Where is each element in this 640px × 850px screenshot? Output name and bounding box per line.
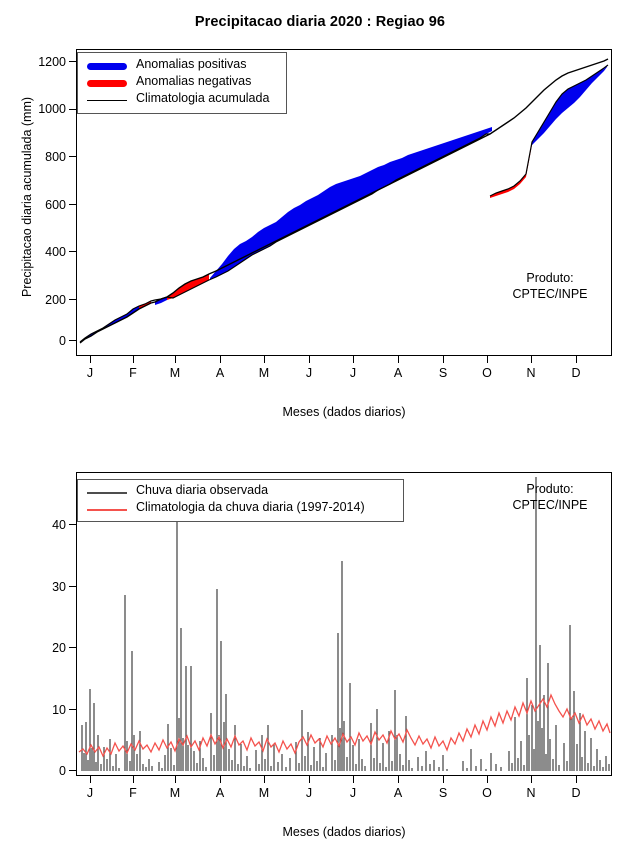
top-x-tickmark xyxy=(220,356,221,363)
top-x-tick-jun: J xyxy=(299,366,319,380)
bottom-x-tick-aug: A xyxy=(388,786,408,800)
legend-label-negative-anomaly: Anomalias negativas xyxy=(136,74,251,88)
climatology-line-swatch-icon xyxy=(87,100,127,101)
top-x-tick-jan: J xyxy=(80,366,100,380)
bottom-x-tickmark xyxy=(443,776,444,783)
positive-anomaly-swatch-icon xyxy=(87,63,127,70)
bottom-x-tickmark xyxy=(220,776,221,783)
bottom-x-tick-jan: J xyxy=(80,786,100,800)
produto-line-2: CPTEC/INPE xyxy=(512,498,587,512)
top-x-tickmark xyxy=(309,356,310,363)
legend-item-climatology-daily[interactable]: Climatologia da chuva diaria (1997-2014) xyxy=(78,501,403,518)
bottom-x-tick-may: M xyxy=(254,786,274,800)
bottom-x-tickmark xyxy=(398,776,399,783)
top-x-tickmark xyxy=(353,356,354,363)
top-x-axis-label: Meses (dados diarios) xyxy=(170,405,518,419)
top-x-tick-mar: M xyxy=(165,366,185,380)
top-y-tick-0: 0 xyxy=(24,334,66,348)
top-y-tickmark xyxy=(69,204,76,205)
bottom-x-tickmark xyxy=(309,776,310,783)
bottom-x-tickmark xyxy=(90,776,91,783)
bottom-x-tickmark xyxy=(264,776,265,783)
accumulated-precipitation-panel: Precipitacao diaria acumulada (mm) 1200 … xyxy=(0,0,640,425)
bottom-x-tick-nov: N xyxy=(521,786,541,800)
top-x-tickmark xyxy=(398,356,399,363)
bottom-x-tickmark xyxy=(531,776,532,783)
bottom-y-tickmark xyxy=(69,524,76,525)
legend-label-climatology-accumulated: Climatologia acumulada xyxy=(136,91,269,105)
bottom-y-tick-0: 0 xyxy=(24,764,66,778)
negative-anomaly-area xyxy=(490,142,532,198)
top-y-tick-800: 800 xyxy=(24,150,66,164)
top-x-tick-feb: F xyxy=(123,366,143,380)
produto-line-1: Produto: xyxy=(526,271,573,285)
legend-label-observed-daily: Chuva diaria observada xyxy=(136,483,268,497)
top-y-tick-600: 600 xyxy=(24,198,66,212)
legend-label-climatology-daily: Climatologia da chuva diaria (1997-2014) xyxy=(136,500,365,514)
climatology-daily-line-swatch-icon xyxy=(87,509,127,511)
legend-item-climatology-accumulated[interactable]: Climatologia acumulada xyxy=(78,92,286,109)
top-x-tickmark xyxy=(576,356,577,363)
bottom-x-axis-label: Meses (dados diarios) xyxy=(170,825,518,839)
produto-line-2: CPTEC/INPE xyxy=(512,287,587,301)
top-y-tickmark xyxy=(69,61,76,62)
legend-item-negative-anomaly[interactable]: Anomalias negativas xyxy=(78,75,286,92)
bottom-x-tick-sep: S xyxy=(433,786,453,800)
observed-daily-line-swatch-icon xyxy=(87,492,127,494)
legend-item-observed-daily[interactable]: Chuva diaria observada xyxy=(78,484,403,501)
top-x-tickmark xyxy=(264,356,265,363)
top-x-tick-aug: A xyxy=(388,366,408,380)
bottom-x-tickmark xyxy=(175,776,176,783)
top-x-tickmark xyxy=(531,356,532,363)
bottom-x-tickmark xyxy=(353,776,354,783)
top-x-tickmark xyxy=(487,356,488,363)
bottom-y-tick-40: 40 xyxy=(24,518,66,532)
top-legend: Anomalias positivas Anomalias negativas … xyxy=(77,52,287,114)
produto-line-1: Produto: xyxy=(526,482,573,496)
bottom-x-tick-apr: A xyxy=(210,786,230,800)
top-y-tick-400: 400 xyxy=(24,245,66,259)
top-y-tickmark xyxy=(69,299,76,300)
top-x-tick-oct: O xyxy=(477,366,497,380)
negative-anomaly-area xyxy=(167,274,209,300)
legend-label-positive-anomaly: Anomalias positivas xyxy=(136,57,246,71)
top-y-tickmark xyxy=(69,156,76,157)
bottom-y-tickmark xyxy=(69,709,76,710)
top-x-tick-nov: N xyxy=(521,366,541,380)
bottom-x-tick-dec: D xyxy=(566,786,586,800)
legend-item-positive-anomaly[interactable]: Anomalias positivas xyxy=(78,58,286,75)
top-produto-annotation: Produto: CPTEC/INPE xyxy=(500,271,600,302)
precipitation-report-page: Precipitacao diaria 2020 : Regiao 96 Pre… xyxy=(0,0,640,850)
top-x-tickmark xyxy=(443,356,444,363)
top-y-tick-1200: 1200 xyxy=(24,55,66,69)
bottom-y-tick-10: 10 xyxy=(24,703,66,717)
top-y-tick-1000: 1000 xyxy=(24,102,66,116)
bottom-x-tick-oct: O xyxy=(477,786,497,800)
top-x-tickmark xyxy=(90,356,91,363)
top-y-tickmark xyxy=(69,109,76,110)
top-y-tickmark xyxy=(69,340,76,341)
bottom-x-tickmark xyxy=(133,776,134,783)
daily-precipitation-panel: Precipitacao diaria (mm) 40 30 20 10 0 xyxy=(0,425,640,850)
bottom-y-tickmark xyxy=(69,770,76,771)
positive-anomaly-area xyxy=(532,66,607,145)
bottom-x-tick-mar: M xyxy=(165,786,185,800)
bottom-y-tick-20: 20 xyxy=(24,641,66,655)
top-x-tick-may: M xyxy=(254,366,274,380)
top-y-tickmark xyxy=(69,251,76,252)
bottom-y-tickmark xyxy=(69,586,76,587)
negative-anomaly-swatch-icon xyxy=(87,80,127,87)
bottom-x-tickmark xyxy=(576,776,577,783)
bottom-legend: Chuva diaria observada Climatologia da c… xyxy=(77,479,404,522)
bottom-y-tickmark xyxy=(69,647,76,648)
top-x-tick-apr: A xyxy=(210,366,230,380)
bottom-y-tick-30: 30 xyxy=(24,580,66,594)
bottom-x-tick-feb: F xyxy=(123,786,143,800)
top-x-tickmark xyxy=(133,356,134,363)
top-x-tick-sep: S xyxy=(433,366,453,380)
top-y-tick-200: 200 xyxy=(24,293,66,307)
top-x-tickmark xyxy=(175,356,176,363)
bottom-x-tickmark xyxy=(487,776,488,783)
bottom-x-tick-jun: J xyxy=(299,786,319,800)
bottom-produto-annotation: Produto: CPTEC/INPE xyxy=(500,482,600,513)
top-x-tick-jul: J xyxy=(343,366,363,380)
bottom-x-tick-jul: J xyxy=(343,786,363,800)
top-x-tick-dec: D xyxy=(566,366,586,380)
